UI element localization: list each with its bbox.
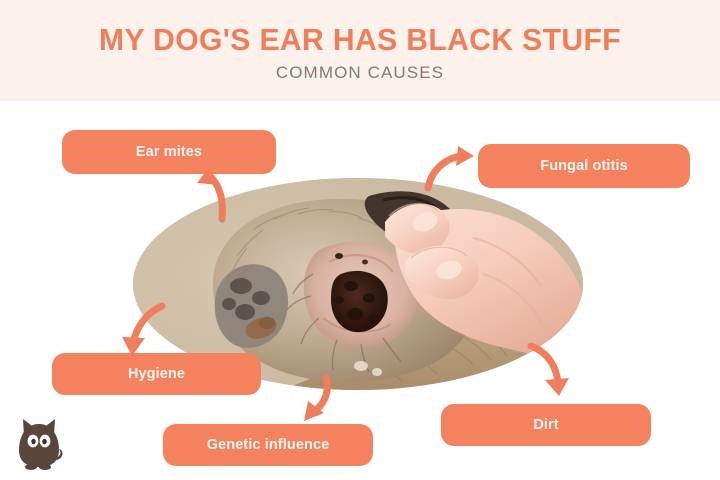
label-dirt: Dirt <box>441 404 651 446</box>
label-fungal-otitis-text: Fungal otitis <box>540 158 628 174</box>
cat-logo-icon <box>14 412 64 470</box>
label-hygiene: Hygiene <box>52 353 261 395</box>
label-genetic-influence-text: Genetic influence <box>207 437 330 453</box>
label-hygiene-text: Hygiene <box>128 366 185 382</box>
label-dirt-text: Dirt <box>533 417 558 433</box>
page-subtitle: COMMON CAUSES <box>0 63 720 83</box>
arrow-down-left-icon <box>120 304 168 358</box>
page-title: MY DOG'S EAR HAS BLACK STUFF <box>11 22 709 58</box>
label-ear-mites: Ear mites <box>62 130 276 174</box>
arrow-up-right-icon <box>424 148 478 190</box>
label-genetic-influence: Genetic influence <box>163 424 373 466</box>
label-ear-mites-text: Ear mites <box>136 144 202 160</box>
label-fungal-otitis: Fungal otitis <box>478 144 690 188</box>
arrow-up-left-icon <box>192 163 236 221</box>
infographic-canvas: MY DOG'S EAR HAS BLACK STUFF COMMON CAUS… <box>0 0 720 480</box>
arrow-down-right-icon <box>527 344 575 400</box>
arrow-down-icon <box>298 375 338 427</box>
